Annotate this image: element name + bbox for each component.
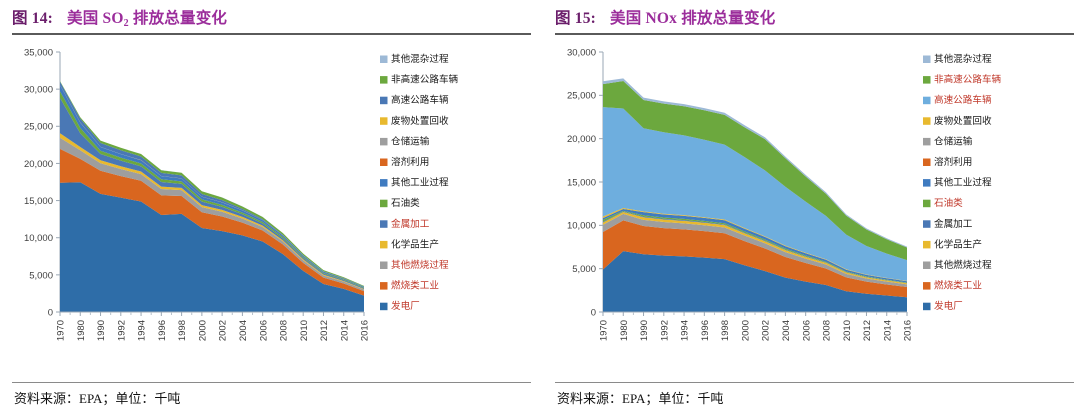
page-title-14: 图 14:美国 SO2 排放总量变化	[12, 6, 531, 34]
y-axis-tick-label: 5,000	[29, 270, 53, 281]
figure-number-15: 图 15:	[555, 10, 596, 27]
x-axis-tick-label: 2012	[319, 320, 330, 341]
x-axis-tick-label: 2016	[360, 320, 371, 341]
legend-label-溶剂利用: 溶剂利用	[934, 156, 972, 168]
x-axis-tick-label: 1980	[619, 320, 630, 341]
legend-swatch-石油类	[923, 200, 931, 208]
x-axis-tick-label: 2006	[801, 320, 812, 341]
legend-swatch-发电厂	[380, 303, 388, 311]
legend-swatch-发电厂	[923, 303, 931, 311]
figure-title-pre-14: 美国 SO	[67, 10, 124, 27]
x-axis-tick-label: 1998	[720, 320, 731, 341]
chart-area-14: 05,00010,00015,00020,00025,00030,00035,0…	[12, 40, 531, 370]
x-axis-tick-label: 2010	[299, 320, 310, 341]
legend-swatch-非高速公路车辆	[380, 76, 388, 84]
stacked-area-chart-14: 05,00010,00015,00020,00025,00030,00035,0…	[12, 40, 531, 370]
legend-swatch-高速公路车辆	[380, 97, 388, 105]
x-axis-tick-label: 2016	[903, 320, 914, 341]
figure-title-post-14: 排放总量变化	[129, 10, 227, 27]
legend-swatch-化学品生产	[380, 241, 388, 249]
x-axis-tick-label: 2002	[761, 320, 772, 341]
legend-swatch-燃烧类工业	[923, 282, 931, 290]
x-axis-tick-label: 2000	[740, 320, 751, 341]
legend-label-石油类: 石油类	[934, 197, 963, 209]
x-axis-tick-label: 2012	[862, 320, 873, 341]
y-axis-tick-label: 0	[591, 307, 596, 318]
legend-label-燃烧类工业: 燃烧类工业	[934, 280, 982, 292]
figure-panel-15: 图 15:美国 NOx 排放总量变化 05,00010,00015,00020,…	[543, 0, 1086, 419]
legend-label-废物处置回收: 废物处置回收	[391, 115, 449, 127]
x-axis-tick-label: 1990	[96, 320, 107, 341]
source-rule-15	[555, 382, 1074, 383]
x-axis-tick-label: 2010	[842, 320, 853, 341]
legend-swatch-废物处置回收	[923, 117, 931, 125]
legend-label-化学品生产: 化学品生产	[391, 238, 439, 250]
x-axis-tick-label: 1996	[700, 320, 711, 341]
source-note-14: 资料来源：EPA；单位：千吨	[14, 388, 180, 407]
x-axis-tick-label: 1980	[76, 320, 87, 341]
x-axis-tick-label: 2008	[279, 320, 290, 341]
y-axis-tick-label: 30,000	[567, 47, 596, 58]
y-axis-tick-label: 15,000	[24, 196, 53, 207]
x-axis-tick-label: 1992	[659, 320, 670, 341]
legend-swatch-其他燃烧过程	[380, 262, 388, 270]
legend-swatch-仓储运输	[380, 138, 388, 146]
x-axis-tick-label: 1994	[680, 320, 691, 341]
y-axis-tick-label: 20,000	[567, 134, 596, 145]
page-title-15: 图 15:美国 NOx 排放总量变化	[555, 6, 1074, 34]
legend-swatch-石油类	[380, 200, 388, 208]
legend-label-其他混杂过程: 其他混杂过程	[934, 53, 992, 65]
legend-swatch-仓储运输	[923, 138, 931, 146]
stacked-area-chart-15: 05,00010,00015,00020,00025,00030,0001970…	[555, 40, 1074, 370]
x-axis-tick-label: 2004	[238, 320, 249, 341]
x-axis-tick-label: 2004	[781, 320, 792, 341]
legend-label-其他工业过程: 其他工业过程	[391, 177, 449, 189]
x-axis-tick-label: 1994	[137, 320, 148, 341]
legend-label-其他工业过程: 其他工业过程	[934, 177, 992, 189]
legend-label-仓储运输: 仓储运输	[934, 135, 973, 147]
title-rule-14	[12, 33, 531, 35]
y-axis-tick-label: 25,000	[567, 91, 596, 102]
legend-swatch-溶剂利用	[380, 159, 388, 167]
chart-area-15: 05,00010,00015,00020,00025,00030,0001970…	[555, 40, 1074, 370]
figure-panel-14: 图 14:美国 SO2 排放总量变化 05,00010,00015,00020,…	[0, 0, 543, 419]
y-axis-tick-label: 25,000	[24, 122, 53, 133]
x-axis-tick-label: 1996	[157, 320, 168, 341]
legend-swatch-其他工业过程	[380, 179, 388, 187]
figure-number-14: 图 14:	[12, 10, 53, 27]
y-axis-tick-label: 5,000	[572, 264, 596, 275]
legend-label-非高速公路车辆: 非高速公路车辆	[934, 74, 1002, 86]
x-axis-tick-label: 2008	[822, 320, 833, 341]
x-axis-tick-label: 2014	[882, 320, 893, 341]
x-axis-tick-label: 1990	[639, 320, 650, 341]
legend-swatch-溶剂利用	[923, 159, 931, 167]
legend-label-其他燃烧过程: 其他燃烧过程	[391, 259, 449, 271]
source-rule-14	[12, 382, 531, 383]
y-axis-tick-label: 10,000	[567, 221, 596, 232]
x-axis-tick-label: 2000	[197, 320, 208, 341]
legend-label-石油类: 石油类	[391, 197, 420, 209]
legend-label-金属加工: 金属加工	[391, 218, 430, 230]
legend-label-其他混杂过程: 其他混杂过程	[391, 53, 449, 65]
legend-label-溶剂利用: 溶剂利用	[391, 156, 429, 168]
legend-label-金属加工: 金属加工	[934, 218, 973, 230]
legend-swatch-高速公路车辆	[923, 97, 931, 105]
legend-label-其他燃烧过程: 其他燃烧过程	[934, 259, 992, 271]
legend-label-发电厂: 发电厂	[391, 300, 420, 312]
x-axis-tick-label: 2006	[258, 320, 269, 341]
x-axis-tick-label: 2002	[218, 320, 229, 341]
legend-swatch-金属加工	[380, 220, 388, 228]
source-note-15: 资料来源：EPA；单位：千吨	[557, 388, 723, 407]
x-axis-tick-label: 2014	[339, 320, 350, 341]
x-axis-tick-label: 1998	[177, 320, 188, 341]
y-axis-tick-label: 10,000	[24, 233, 53, 244]
legend-label-发电厂: 发电厂	[934, 300, 963, 312]
x-axis-tick-label: 1970	[56, 320, 67, 341]
legend-label-化学品生产: 化学品生产	[934, 238, 982, 250]
legend-label-高速公路车辆: 高速公路车辆	[391, 94, 449, 106]
legend-swatch-其他工业过程	[923, 179, 931, 187]
figures-page: 图 14:美国 SO2 排放总量变化 05,00010,00015,00020,…	[0, 0, 1086, 419]
legend-label-燃烧类工业: 燃烧类工业	[391, 280, 439, 292]
title-rule-15	[555, 33, 1074, 35]
x-axis-tick-label: 1970	[599, 320, 610, 341]
y-axis-tick-label: 0	[48, 307, 53, 318]
legend-label-非高速公路车辆: 非高速公路车辆	[391, 74, 459, 86]
legend-swatch-废物处置回收	[380, 117, 388, 125]
figure-title-pre-15: 美国 NOx 排放总量变化	[610, 10, 775, 27]
legend-swatch-金属加工	[923, 220, 931, 228]
x-axis-tick-label: 1992	[116, 320, 127, 341]
legend-swatch-其他混杂过程	[923, 56, 931, 64]
legend-label-废物处置回收: 废物处置回收	[934, 115, 992, 127]
legend-swatch-非高速公路车辆	[923, 76, 931, 84]
legend-swatch-燃烧类工业	[380, 282, 388, 290]
y-axis-tick-label: 15,000	[567, 177, 596, 188]
legend-label-高速公路车辆: 高速公路车辆	[934, 94, 992, 106]
legend-swatch-化学品生产	[923, 241, 931, 249]
y-axis-tick-label: 20,000	[24, 159, 53, 170]
legend-swatch-其他混杂过程	[380, 56, 388, 64]
y-axis-tick-label: 35,000	[24, 47, 53, 58]
legend-swatch-其他燃烧过程	[923, 262, 931, 270]
y-axis-tick-label: 30,000	[24, 85, 53, 96]
legend-label-仓储运输: 仓储运输	[391, 135, 430, 147]
